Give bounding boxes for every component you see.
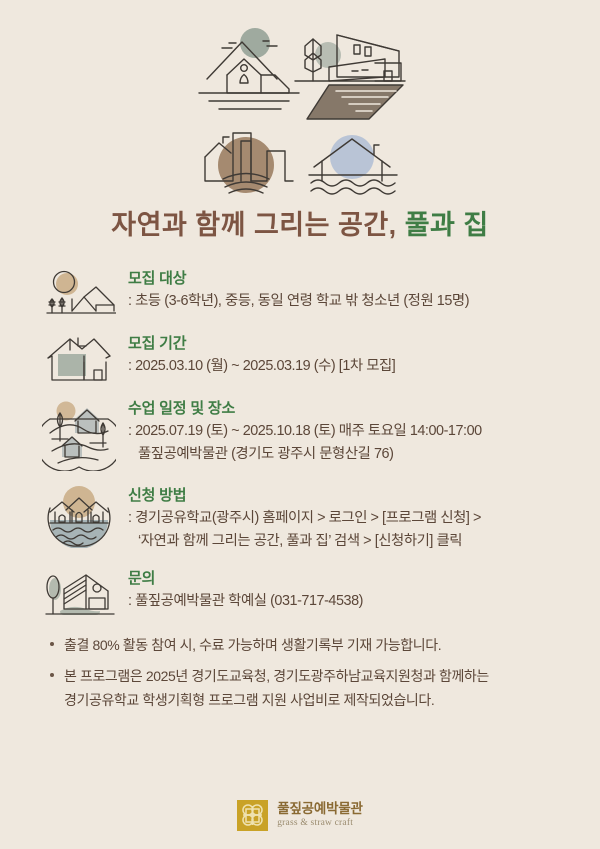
waterside-houses-with-sun-icon [42,484,128,548]
poster-title-main: 자연과 함께 그리는 공간, [111,210,396,240]
bullet-icon [50,633,64,646]
section-line: : 경기공유학교(광주시) 홈페이지 > 로그인 > [프로그램 신청] > [128,507,481,530]
note-item: 출결 80% 활동 참여 시, 수료 가능하며 생활기록부 기재 가능합니다. [50,633,560,657]
footer-logo: 풀짚공예박물관 grass & straw craft [0,800,600,831]
note-text-block: 본 프로그램은 2025년 경기도교육청, 경기도광주하남교육지원청과 함께하는… [64,664,489,712]
barn-with-tree-icon [42,567,128,619]
info-row-contact: 문의 : 풀짚공예박물관 학예실 (031-717-4538) [42,567,564,619]
info-row-body: 모집 기간 : 2025.03.10 (월) ~ 2025.03.19 (수) … [128,332,395,378]
info-row-body: 모집 대상 : 초등 (3-6학년), 중등, 동일 연령 학교 밖 청소년 (… [128,267,469,313]
section-heading: 문의 [128,568,363,590]
notes-list: 출결 80% 활동 참여 시, 수료 가능하며 생활기록부 기재 가능합니다. … [0,633,600,712]
poster-title-accent: 풀과 집 [405,210,489,240]
circular-village-landscape-icon [42,397,128,471]
info-row-body: 문의 : 풀짚공예박물관 학예실 (031-717-4538) [128,567,363,613]
house-with-shaded-wall-icon [42,332,128,384]
info-row-body: 신청 방법 : 경기공유학교(광주시) 홈페이지 > 로그인 > [프로그램 신… [128,484,481,553]
section-heading: 모집 기간 [128,333,395,355]
house-with-trees-and-sun-icon [42,267,128,319]
section-heading: 신청 방법 [128,485,481,507]
museum-name-en: grass & straw craft [277,819,363,829]
info-sections: 모집 대상 : 초등 (3-6학년), 중등, 동일 연령 학교 밖 청소년 (… [0,267,600,618]
section-line: : 2025.07.19 (토) ~ 2025.10.18 (토) 매주 토요일… [128,420,482,443]
info-row-recruit-target: 모집 대상 : 초등 (3-6학년), 중등, 동일 연령 학교 밖 청소년 (… [42,267,564,319]
bullet-icon [50,664,64,677]
museum-logo-icon [237,800,268,831]
note-text: 본 프로그램은 2025년 경기도교육청, 경기도광주하남교육지원청과 함께하는 [64,664,489,688]
section-line: : 2025.03.10 (월) ~ 2025.03.19 (수) [1차 모집… [128,355,395,378]
info-row-apply-method: 신청 방법 : 경기공유학교(광주시) 홈페이지 > 로그인 > [프로그램 신… [42,484,564,553]
section-heading: 수업 일정 및 장소 [128,398,482,420]
info-row-schedule-place: 수업 일정 및 장소 : 2025.07.19 (토) ~ 2025.10.18… [42,397,564,471]
section-line: : 초등 (3-6학년), 중등, 동일 연령 학교 밖 청소년 (정원 15명… [128,290,469,313]
section-line: ‘자연과 함께 그리는 공간, 풀과 집’ 검색 > [신청하기] 클릭 [128,530,481,553]
hero-illustration-svg [189,15,411,195]
museum-logo-text: 풀짚공예박물관 grass & straw craft [277,802,363,829]
poster-title: 자연과 함께 그리는 공간, 풀과 집 [0,209,600,241]
section-line: 풀짚공예박물관 (경기도 광주시 문형산길 76) [128,443,482,466]
hero-illustration [0,0,600,195]
note-text: 출결 80% 활동 참여 시, 수료 가능하며 생활기록부 기재 가능합니다. [64,633,441,657]
note-text: 경기공유학교 학생기획형 프로그램 지원 사업비로 제작되었습니다. [64,688,489,712]
note-item: 본 프로그램은 2025년 경기도교육청, 경기도광주하남교육지원청과 함께하는… [50,664,560,712]
museum-name-ko: 풀짚공예박물관 [277,802,363,816]
section-line: : 풀짚공예박물관 학예실 (031-717-4538) [128,590,363,613]
info-row-body: 수업 일정 및 장소 : 2025.07.19 (토) ~ 2025.10.18… [128,397,482,466]
section-heading: 모집 대상 [128,268,469,290]
info-row-recruit-period: 모집 기간 : 2025.03.10 (월) ~ 2025.03.19 (수) … [42,332,564,384]
